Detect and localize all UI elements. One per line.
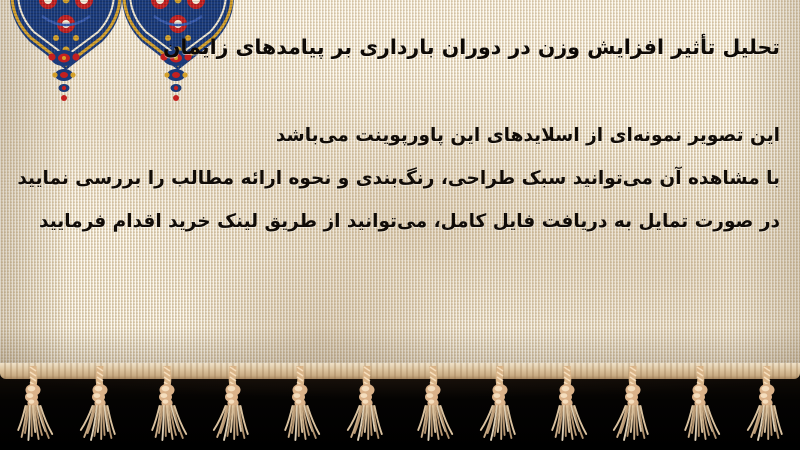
tassel <box>345 366 389 450</box>
tassel <box>11 366 55 450</box>
tassel <box>278 366 322 450</box>
slide-title: تحلیل تأثیر افزایش وزن در دوران بارداری … <box>20 32 780 62</box>
tassel <box>745 366 789 450</box>
tassel <box>411 366 455 450</box>
body-line: با مشاهده آن می‌توانید سبک طراحی، رنگ‌بن… <box>20 157 780 200</box>
tassel <box>145 366 189 450</box>
body-line: در صورت تمایل به دریافت فایل کامل، می‌تو… <box>20 200 780 243</box>
tassel <box>478 366 522 450</box>
presentation-slide: تحلیل تأثیر افزایش وزن در دوران بارداری … <box>0 0 800 450</box>
tassel <box>78 366 122 450</box>
tassel <box>678 366 722 450</box>
slide-body-text: این تصویر نمونه‌ای از اسلایدهای این پاور… <box>20 114 780 243</box>
body-line: این تصویر نمونه‌ای از اسلایدهای این پاور… <box>20 114 780 157</box>
tassel <box>545 366 589 450</box>
tassel <box>611 366 655 450</box>
slide-text-layer: تحلیل تأثیر افزایش وزن در دوران بارداری … <box>0 0 800 381</box>
tassel <box>211 366 255 450</box>
